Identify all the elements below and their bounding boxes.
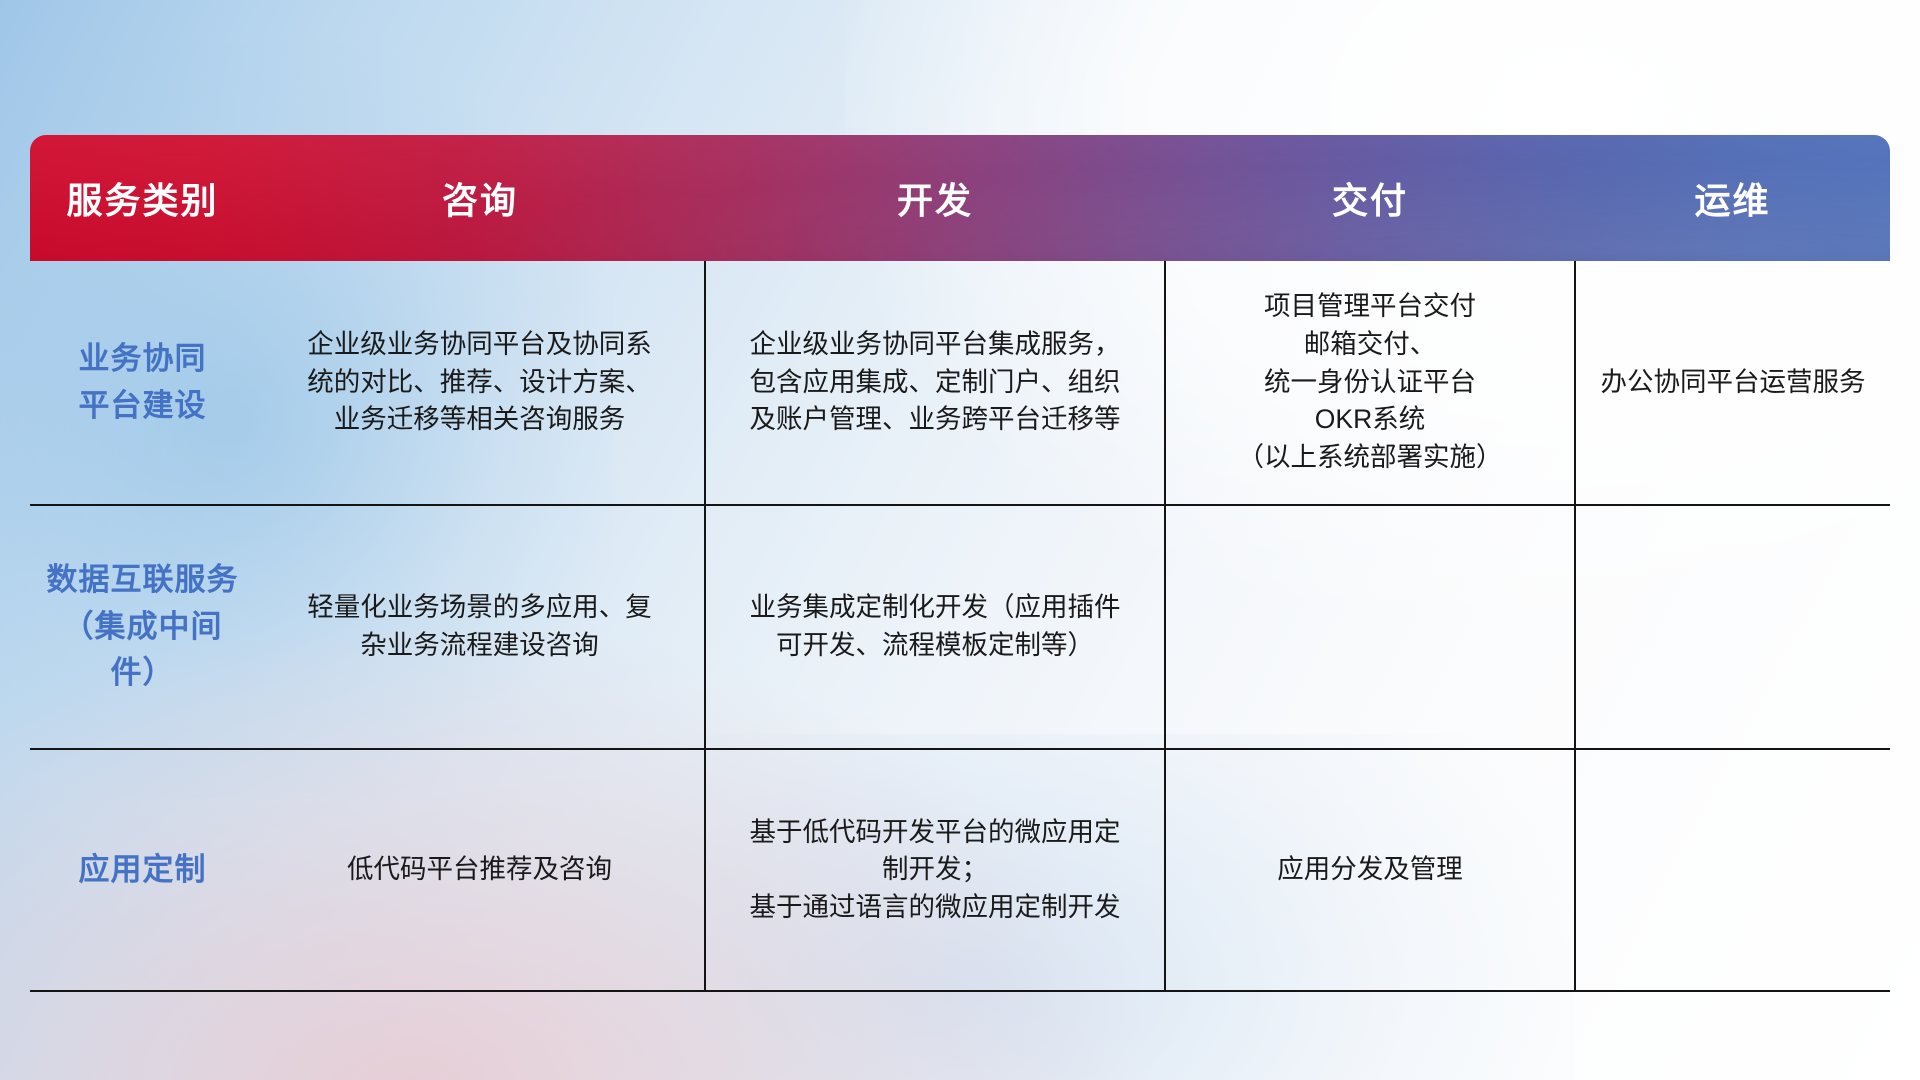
cell-development-row2: 业务集成定制化开发（应用插件 可开发、流程模板定制等） — [705, 505, 1165, 749]
column-header-consulting: 咨询 — [255, 135, 705, 261]
table-header-row: 服务类别 咨询 开发 交付 运维 — [30, 135, 1890, 261]
table-body: 业务协同 平台建设 企业级业务协同平台及协同系 统的对比、推荐、设计方案、 业务… — [30, 261, 1890, 991]
cell-text: 业务集成定制化开发（应用插件 可开发、流程模板定制等） — [720, 589, 1150, 664]
cell-development-row1: 企业级业务协同平台集成服务， 包含应用集成、定制门户、组织 及账户管理、业务跨平… — [705, 261, 1165, 505]
cell-text: 数据互联服务 （集成中间件） — [44, 557, 241, 697]
cell-delivery-row3: 应用分发及管理 — [1165, 749, 1575, 991]
column-header-category: 服务类别 — [30, 135, 255, 261]
cell-text: 轻量化业务场景的多应用、复 杂业务流程建设咨询 — [269, 589, 690, 664]
service-matrix-table-wrapper: 服务类别 咨询 开发 交付 运维 业务协同 平台建设 — [30, 135, 1890, 965]
table-row: 数据互联服务 （集成中间件） 轻量化业务场景的多应用、复 杂业务流程建设咨询 业… — [30, 505, 1890, 749]
column-header-category-label: 服务类别 — [30, 172, 255, 224]
cell-text: 项目管理平台交付 邮箱交付、 统一身份认证平台 OKR系统 （以上系统部署实施） — [1180, 288, 1560, 476]
column-header-development-label: 开发 — [705, 172, 1165, 224]
column-header-operations-label: 运维 — [1575, 172, 1890, 224]
cell-consulting-row3: 低代码平台推荐及咨询 — [255, 749, 705, 991]
cell-delivery-row1: 项目管理平台交付 邮箱交付、 统一身份认证平台 OKR系统 （以上系统部署实施） — [1165, 261, 1575, 505]
cell-text: 基于低代码开发平台的微应用定 制开发； 基于通过语言的微应用定制开发 — [720, 814, 1150, 927]
cell-operations-row2 — [1575, 505, 1890, 749]
column-header-delivery: 交付 — [1165, 135, 1575, 261]
cell-category-row1: 业务协同 平台建设 — [30, 261, 255, 505]
column-header-development: 开发 — [705, 135, 1165, 261]
cell-development-row3: 基于低代码开发平台的微应用定 制开发； 基于通过语言的微应用定制开发 — [705, 749, 1165, 991]
cell-text: 企业级业务协同平台集成服务， 包含应用集成、定制门户、组织 及账户管理、业务跨平… — [720, 326, 1150, 439]
cell-operations-row1: 办公协同平台运营服务 — [1575, 261, 1890, 505]
table-row: 应用定制 低代码平台推荐及咨询 基于低代码开发平台的微应用定 制开发； 基于通过… — [30, 749, 1890, 991]
cell-category-row2: 数据互联服务 （集成中间件） — [30, 505, 255, 749]
table-row: 业务协同 平台建设 企业级业务协同平台及协同系 统的对比、推荐、设计方案、 业务… — [30, 261, 1890, 505]
column-header-consulting-label: 咨询 — [255, 172, 705, 224]
cell-operations-row3 — [1575, 749, 1890, 991]
cell-text: 企业级业务协同平台及协同系 统的对比、推荐、设计方案、 业务迁移等相关咨询服务 — [269, 326, 690, 439]
cell-text: 办公协同平台运营服务 — [1590, 364, 1876, 402]
cell-consulting-row1: 企业级业务协同平台及协同系 统的对比、推荐、设计方案、 业务迁移等相关咨询服务 — [255, 261, 705, 505]
cell-text: 应用定制 — [44, 847, 241, 894]
cell-text: 低代码平台推荐及咨询 — [269, 851, 690, 889]
cell-consulting-row2: 轻量化业务场景的多应用、复 杂业务流程建设咨询 — [255, 505, 705, 749]
cell-text: 应用分发及管理 — [1180, 851, 1560, 889]
cell-text: 业务协同 平台建设 — [44, 336, 241, 429]
cell-delivery-row2 — [1165, 505, 1575, 749]
column-header-operations: 运维 — [1575, 135, 1890, 261]
cell-category-row3: 应用定制 — [30, 749, 255, 991]
column-header-delivery-label: 交付 — [1165, 172, 1575, 224]
table-header: 服务类别 咨询 开发 交付 运维 — [30, 135, 1890, 261]
service-matrix-table: 服务类别 咨询 开发 交付 运维 业务协同 平台建设 — [30, 135, 1890, 992]
